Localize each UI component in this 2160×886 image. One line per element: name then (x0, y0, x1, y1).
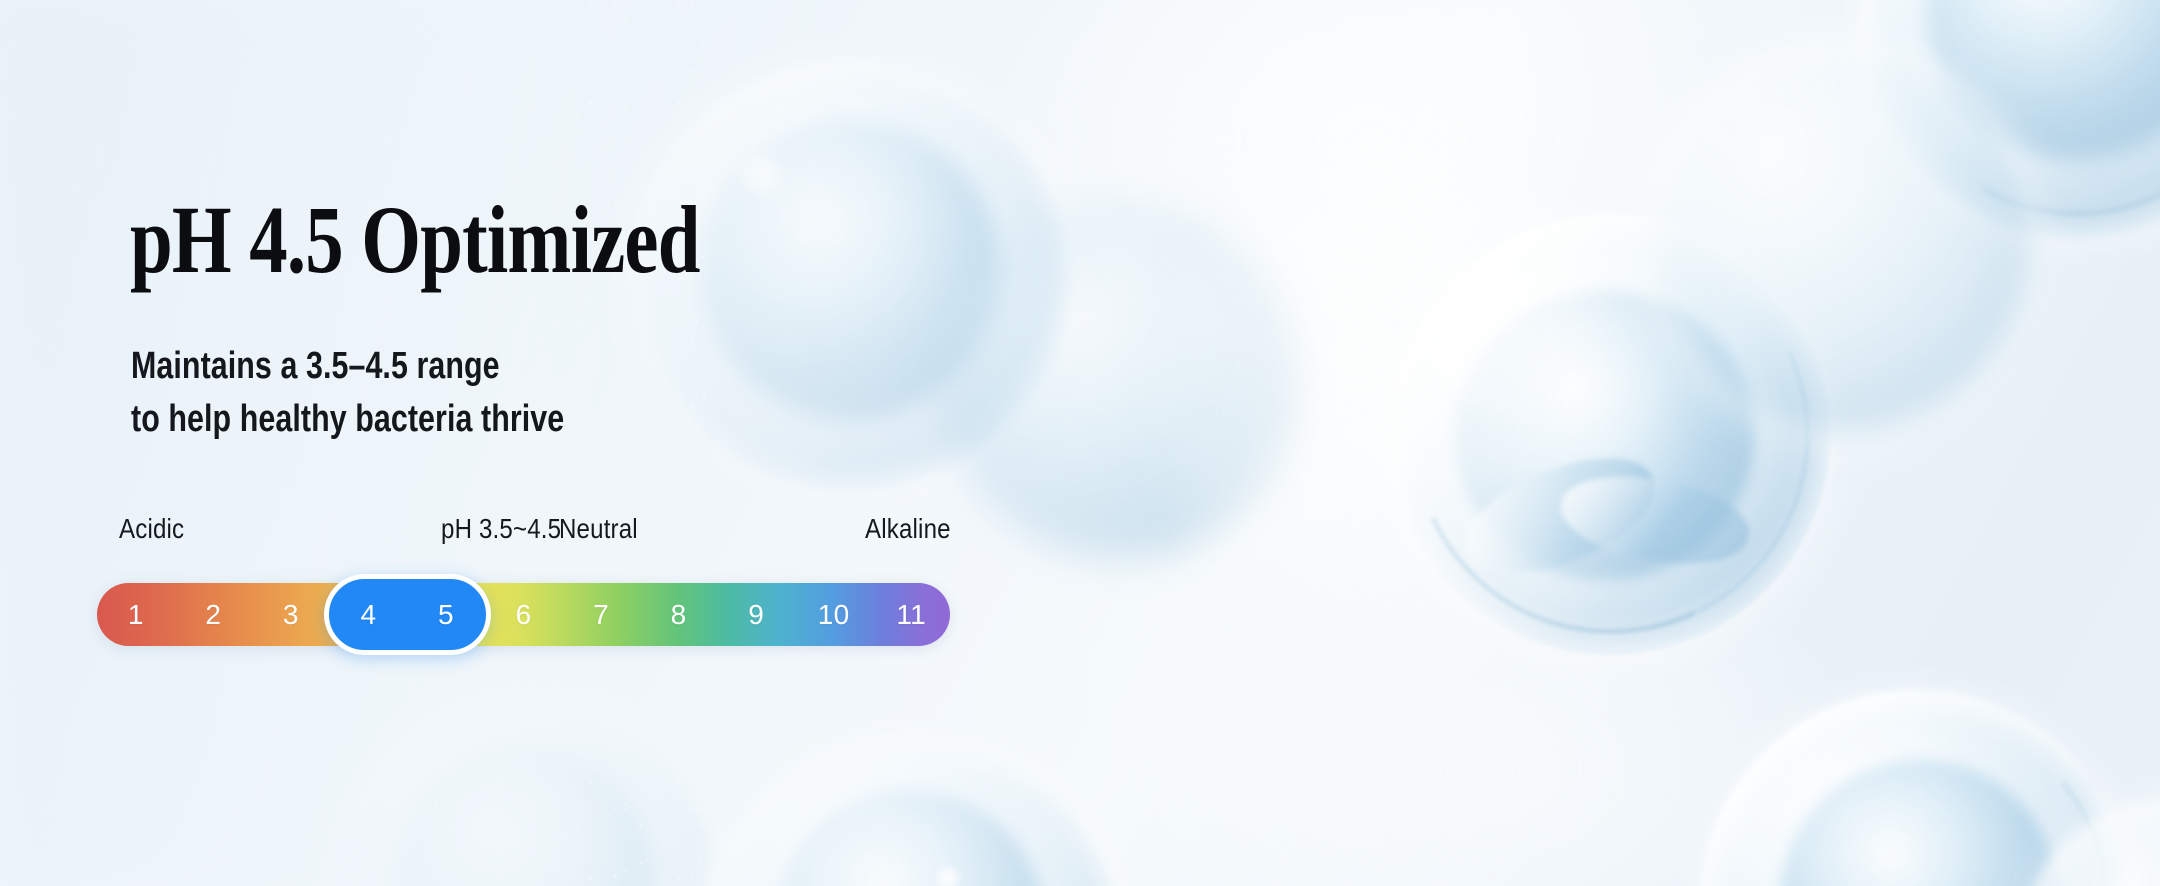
ph-tick-7: 7 (593, 583, 609, 646)
subtitle-line-2: to help healthy bacteria thrive (131, 393, 564, 446)
ph-scale: Acidic pH 3.5~4.5 Neutral Alkaline 12345… (97, 512, 950, 646)
scale-label-acidic: Acidic (119, 512, 184, 546)
ph-tick-5: 5 (438, 583, 454, 646)
ph-tick-4: 4 (360, 583, 376, 646)
scale-label-alkaline: Alkaline (865, 512, 951, 546)
ph-tick-10: 10 (818, 583, 850, 646)
ph-tick-2: 2 (205, 583, 221, 646)
ph-scale-labels: Acidic pH 3.5~4.5 Neutral Alkaline (97, 512, 950, 552)
ph-gradient-bar[interactable]: 1234567891011 (97, 583, 950, 646)
subtitle-line-1: Maintains a 3.5–4.5 range (131, 340, 564, 393)
ph-tick-1: 1 (128, 583, 144, 646)
banner-content: pH 4.5 Optimized Maintains a 3.5–4.5 ran… (0, 0, 2160, 886)
ph-tick-11: 11 (896, 583, 926, 646)
ph-tick-6: 6 (516, 583, 532, 646)
ph-tick-9: 9 (748, 583, 764, 646)
ph-tick-8: 8 (671, 583, 687, 646)
scale-label-neutral: Neutral (559, 512, 638, 546)
scale-label-range: pH 3.5~4.5 (441, 512, 561, 546)
ph-highlight-pill[interactable] (324, 574, 491, 655)
ph-tick-3: 3 (283, 583, 299, 646)
ph-scale-bar-wrap: 1234567891011 (97, 583, 950, 646)
page-title: pH 4.5 Optimized (130, 192, 700, 288)
subtitle: Maintains a 3.5–4.5 range to help health… (131, 340, 564, 446)
